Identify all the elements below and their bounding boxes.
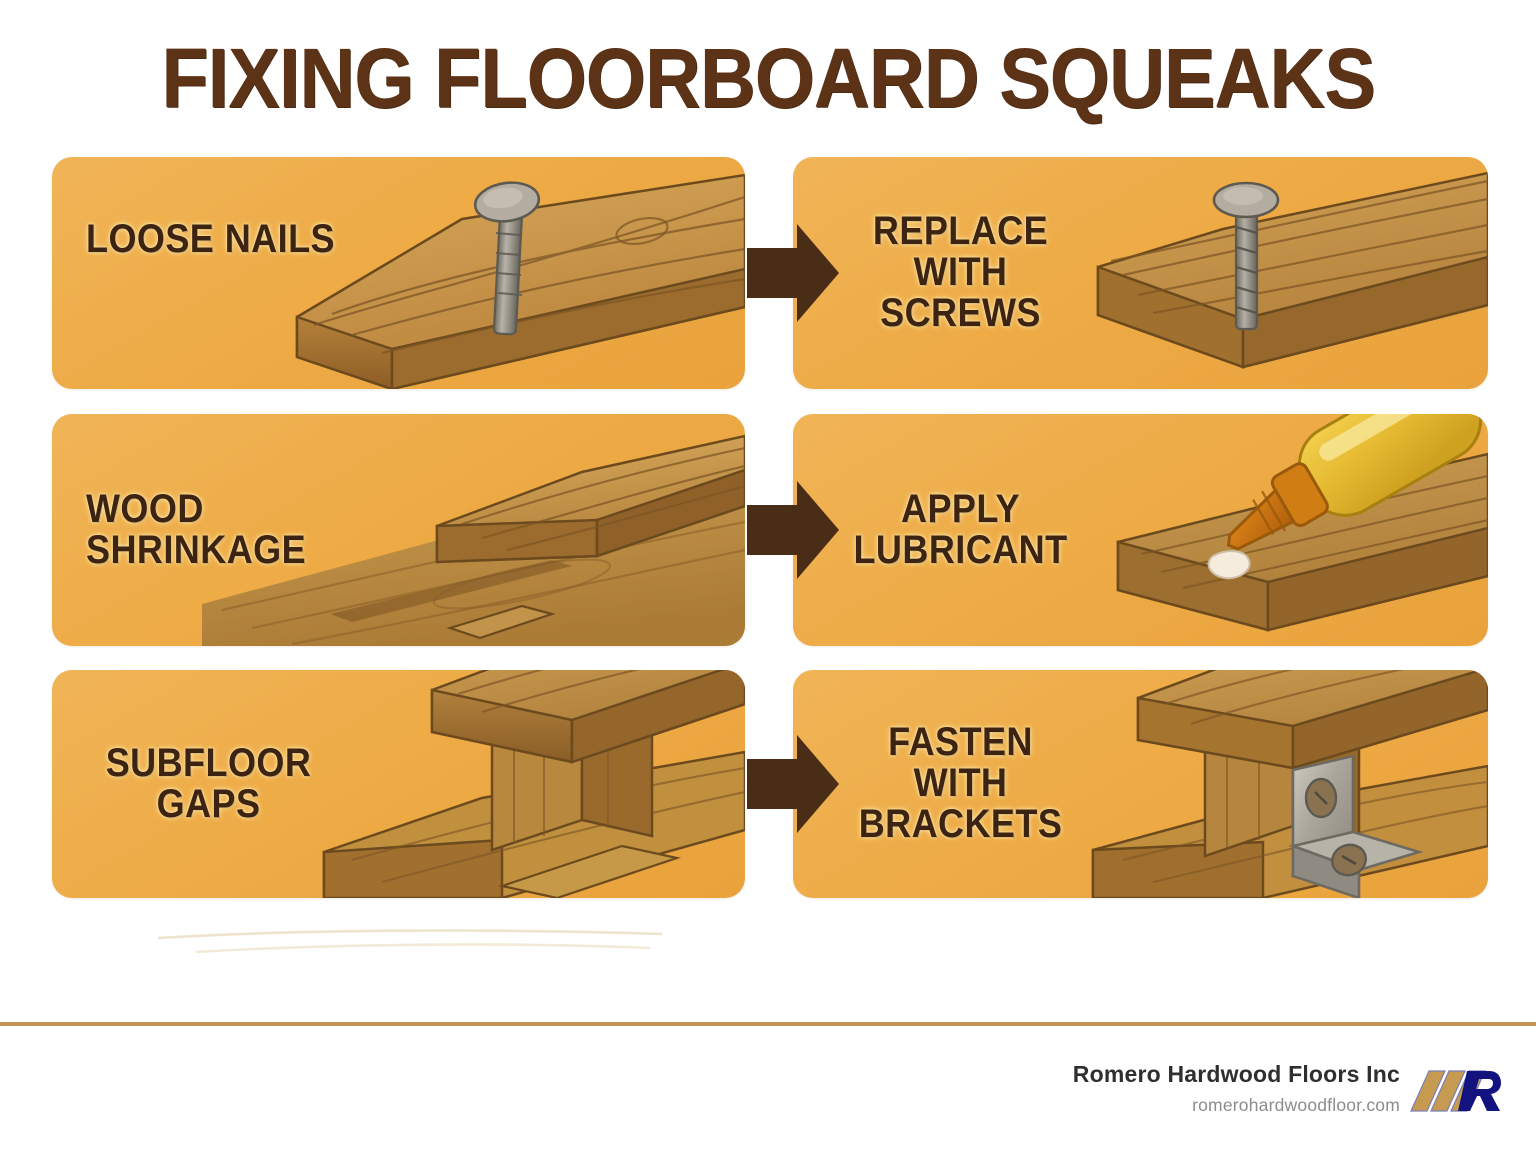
card-label-replace-with-screws: REPLACE WITH SCREWS <box>839 211 1082 335</box>
row-wood-shrinkage: WOOD SHRINKAGE <box>52 414 1488 646</box>
arrow-row-3 <box>745 729 841 839</box>
company-name: Romero Hardwood Floors Inc <box>1073 1061 1400 1089</box>
row-loose-nails: LOOSE NAILS <box>52 157 1488 389</box>
card-grid: LOOSE NAILS <box>52 157 1488 899</box>
footer: Romero Hardwood Floors Inc romerohardwoo… <box>0 1055 1536 1145</box>
card-solution-apply-lubricant[interactable]: APPLY LUBRICANT <box>793 414 1488 646</box>
arrow-row-1 <box>745 218 841 328</box>
romero-hardwood-floors-logo-icon <box>1409 1065 1501 1117</box>
illustration-nail-in-plank <box>52 157 745 389</box>
card-label-subfloor-gaps: SUBFLOOR GAPS <box>78 743 339 825</box>
infographic-root: FIXING FLOORBOARD SQUEAKS <box>0 0 1536 1154</box>
ground-shadow-streaks <box>150 918 670 958</box>
card-label-wood-shrinkage: WOOD SHRINKAGE <box>86 489 306 571</box>
footer-text-block: Romero Hardwood Floors Inc romerohardwoo… <box>1073 1061 1400 1116</box>
row-subfloor-gaps: SUBFLOOR GAPS <box>52 670 1488 898</box>
footer-divider <box>0 1022 1536 1026</box>
arrow-row-2 <box>745 475 841 585</box>
page-title: FIXING FLOORBOARD SQUEAKS <box>61 36 1474 120</box>
card-problem-wood-shrinkage[interactable]: WOOD SHRINKAGE <box>52 414 745 646</box>
company-website[interactable]: romerohardwoodfloor.com <box>1073 1095 1400 1116</box>
card-solution-replace-with-screws[interactable]: REPLACE WITH SCREWS <box>793 157 1488 389</box>
card-label-loose-nails: LOOSE NAILS <box>86 219 335 260</box>
card-solution-fasten-with-brackets[interactable]: FASTEN WITH BRACKETS <box>793 670 1488 898</box>
card-problem-subfloor-gaps[interactable]: SUBFLOOR GAPS <box>52 670 745 898</box>
card-label-fasten-with-brackets: FASTEN WITH BRACKETS <box>839 722 1082 846</box>
card-problem-loose-nails[interactable]: LOOSE NAILS <box>52 157 745 389</box>
card-label-apply-lubricant: APPLY LUBRICANT <box>839 489 1082 571</box>
